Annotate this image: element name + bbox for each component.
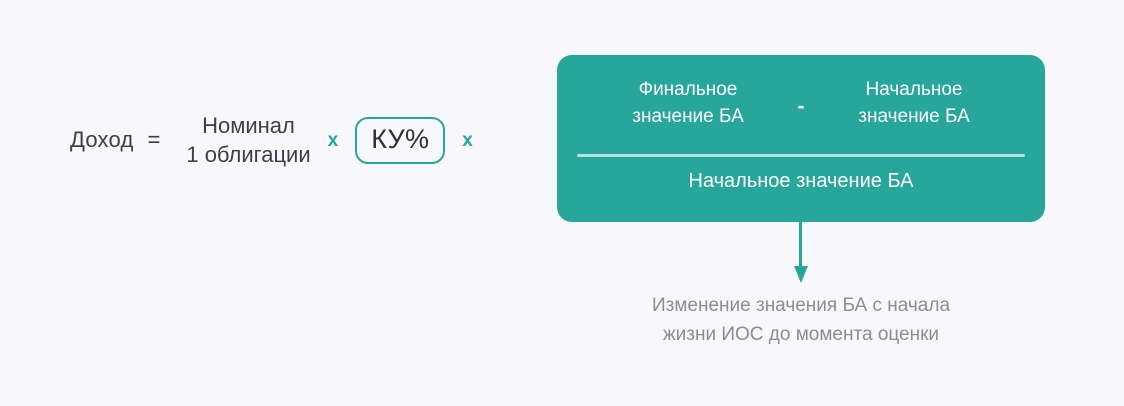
equals-sign: = bbox=[147, 127, 160, 153]
multiply-icon-1: x bbox=[328, 130, 339, 152]
final-value-line-1: Финальное bbox=[639, 77, 738, 104]
fraction-box: Финальное значение БА - Начальное значен… bbox=[557, 55, 1045, 222]
annotation-caption: Изменение значения БА с начала жизни ИОС… bbox=[541, 292, 1061, 350]
nominal-line-2: 1 облигации bbox=[186, 140, 310, 169]
income-formula: Доход = Номинал 1 облигации x КУ% x bbox=[70, 105, 490, 175]
initial-value-line-2: значение БА bbox=[858, 104, 970, 131]
numerator-term-final: Финальное значение БА bbox=[593, 77, 783, 131]
arrow-head bbox=[794, 266, 808, 283]
nominal-term: Номинал 1 облигации bbox=[186, 111, 310, 170]
caption-line-2: жизни ИОС до момента оценки bbox=[541, 321, 1061, 350]
fraction-numerator: Финальное значение БА - Начальное значен… bbox=[557, 77, 1045, 131]
denominator-label: Начальное значение БА bbox=[689, 170, 914, 192]
minus-icon: - bbox=[783, 95, 819, 119]
fraction-bar bbox=[577, 154, 1025, 157]
fraction-denominator: Начальное значение БА bbox=[557, 170, 1045, 193]
down-arrow-icon bbox=[794, 222, 808, 284]
caption-line-1: Изменение значения БА с начала bbox=[541, 292, 1061, 321]
nominal-line-1: Номинал bbox=[202, 111, 295, 140]
coupon-rate-box: КУ% bbox=[355, 117, 445, 164]
income-label: Доход bbox=[70, 127, 133, 153]
coupon-rate-label: КУ% bbox=[371, 126, 429, 153]
diagram-canvas: Доход = Номинал 1 облигации x КУ% x Фина… bbox=[0, 0, 1124, 406]
arrow-stem bbox=[799, 222, 802, 268]
numerator-term-initial: Начальное значение БА bbox=[819, 77, 1009, 131]
multiply-icon-2: x bbox=[462, 130, 473, 152]
initial-value-line-1: Начальное bbox=[866, 77, 963, 104]
final-value-line-2: значение БА bbox=[632, 104, 744, 131]
